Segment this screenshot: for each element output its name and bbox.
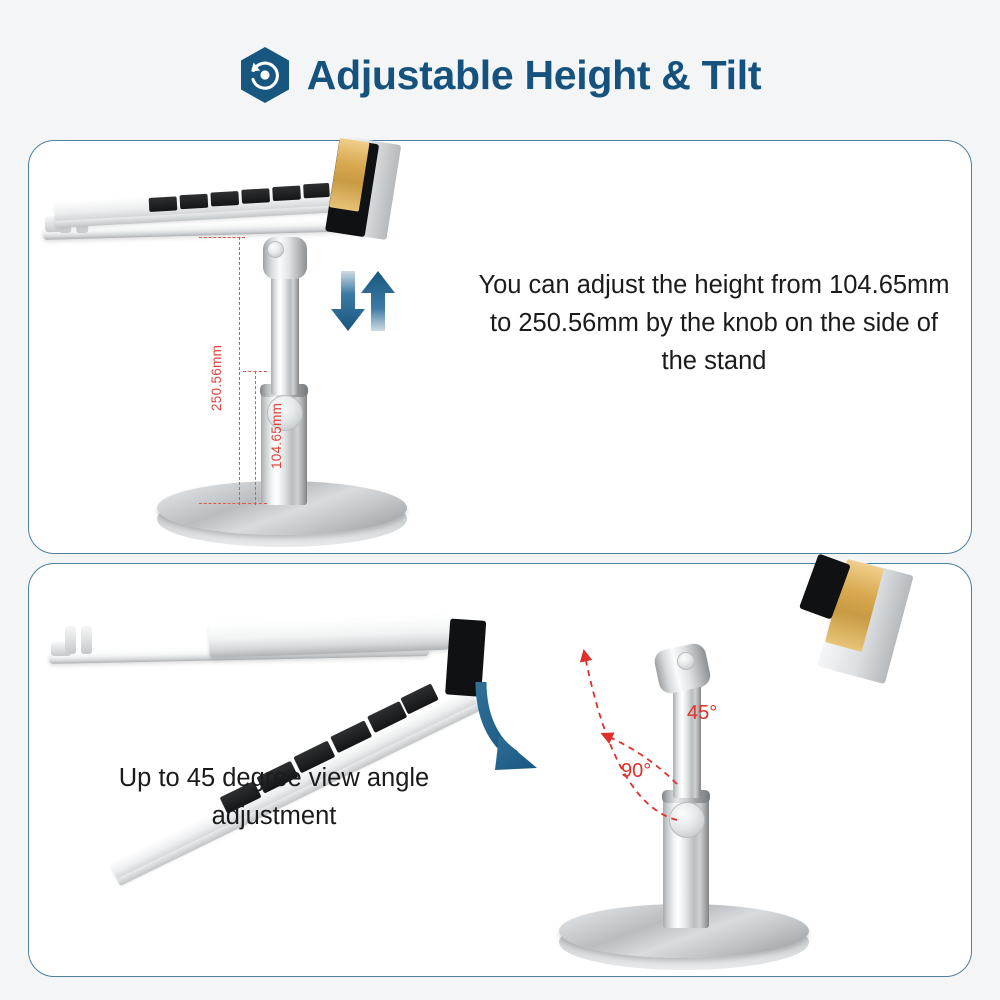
arrow-up-icon: [361, 271, 395, 331]
dimension-label-min: 104.65mm: [269, 403, 284, 469]
page-header: Adjustable Height & Tilt: [0, 42, 1000, 108]
curved-arrow-head: [495, 736, 537, 770]
dimension-label-max: 250.56mm: [209, 345, 224, 411]
tilt-description-text: Up to 45 degree view angle adjustment: [84, 759, 464, 835]
arrow-down-icon: [331, 271, 365, 331]
rotate-adjust-icon: [239, 46, 291, 104]
adjustable-height-panel: 250.56mm 104.65mm: [28, 140, 972, 554]
infographic-page: Adjustable Height & Tilt: [0, 0, 1000, 1000]
height-description-text: You can adjust the height from 104.65mm …: [469, 266, 959, 380]
page-title: Adjustable Height & Tilt: [307, 52, 761, 99]
tilt-angle-panel: 45° 90° Up to 45 degree view angle adjus…: [28, 563, 972, 977]
height-adjust-arrows: [329, 269, 399, 340]
